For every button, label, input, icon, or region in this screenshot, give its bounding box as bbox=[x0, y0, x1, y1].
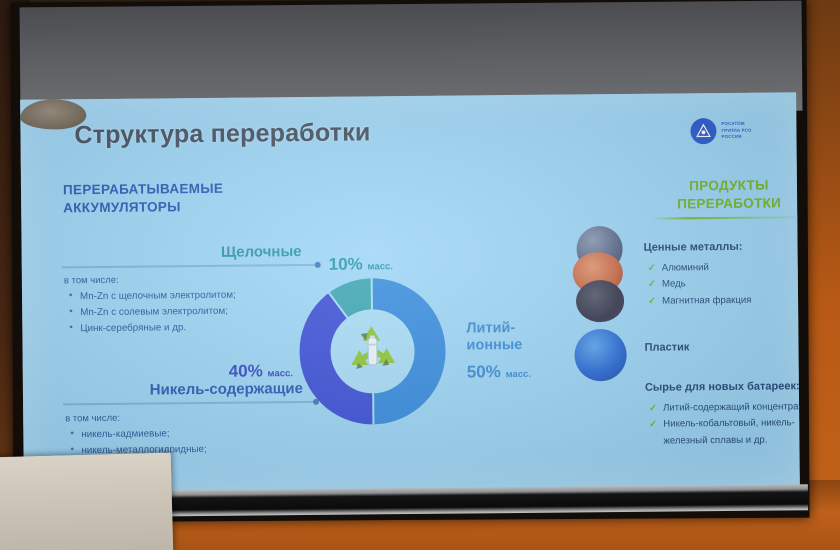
list-item: никель-кадмиевые; bbox=[81, 426, 206, 443]
percent-lithium-value: 50% bbox=[467, 362, 501, 381]
right-column-heading: ПРОДУКТЫ ПЕРЕРАБОТКИ bbox=[649, 176, 800, 214]
connector-line-nickel bbox=[63, 401, 315, 405]
left-column-heading: ПЕРЕРАБАТЫВАЕМЫЕ АККУМУЛЯТОРЫ bbox=[63, 180, 223, 218]
percent-nickel: 40% масс. bbox=[229, 361, 293, 382]
lithium-label-line-1: Литий- bbox=[466, 320, 522, 338]
recycling-icon bbox=[341, 320, 404, 383]
rosatom-logo: РОСАТОМ ГРУППА РСО РОССИЯ bbox=[690, 118, 751, 145]
percent-nickel-value: 40% bbox=[229, 361, 263, 380]
list-item: Mn-Zn с щелочным электролитом; bbox=[80, 288, 236, 305]
percent-lithium: 50% масс. bbox=[467, 362, 531, 383]
donut-chart bbox=[299, 278, 446, 425]
metal-granules-image-3 bbox=[576, 280, 624, 322]
presentation-slide: Структура переработки РОСАТОМ ГРУППА РСО… bbox=[20, 92, 800, 493]
donut-center bbox=[330, 309, 415, 394]
right-heading-divider bbox=[651, 216, 800, 219]
logo-line-3: РОССИЯ bbox=[721, 134, 751, 141]
sublist-alkaline: в том числе: Mn-Zn с щелочным электролит… bbox=[64, 274, 236, 337]
connector-dot-alkaline bbox=[315, 261, 321, 267]
list-item: Mn-Zn с солевым электролитом; bbox=[80, 304, 236, 321]
group-label-lithium: Литий- ионные bbox=[466, 320, 522, 355]
group-label-nickel: Никель-содержащие bbox=[111, 380, 303, 399]
lithium-label-line-2: ионные bbox=[466, 337, 522, 355]
percent-lithium-unit: масс. bbox=[506, 369, 532, 380]
product-block-metals: Ценные металлы: Алюминий Медь Магнитная … bbox=[644, 240, 800, 310]
list-item: Магнитная фракция bbox=[662, 292, 800, 310]
right-heading-line-2: ПЕРЕРАБОТКИ bbox=[649, 194, 800, 214]
group-label-alkaline: Щелочные bbox=[142, 243, 302, 262]
right-heading-line-1: ПРОДУКТЫ bbox=[649, 176, 800, 196]
list-item: Медь bbox=[662, 275, 800, 293]
percent-nickel-unit: масс. bbox=[267, 368, 293, 379]
percent-alkaline-value: 10% bbox=[329, 254, 363, 273]
product-block-raw-materials: Сырье для новых батареек: Литий-содержащ… bbox=[645, 380, 800, 450]
product-block-plastic: Пластик bbox=[644, 340, 799, 355]
left-heading-line-2: АККУМУЛЯТОРЫ bbox=[63, 198, 223, 218]
list-item: Цинк-серебряные и др. bbox=[80, 319, 236, 336]
sublist-nickel-intro: в том числе: bbox=[65, 412, 206, 424]
list-item: Алюминий bbox=[662, 259, 800, 277]
product-block-raw-materials-items: Литий-содержащий концентрат Никель-кобал… bbox=[645, 399, 800, 450]
connector-line-alkaline bbox=[62, 264, 317, 268]
page-title: Структура переработки bbox=[74, 118, 370, 150]
product-block-metals-title: Ценные металлы: bbox=[644, 240, 800, 255]
list-item: Литий-содержащий концентрат bbox=[663, 399, 800, 417]
product-block-metals-items: Алюминий Медь Магнитная фракция bbox=[644, 259, 800, 310]
photo-scene: Структура переработки РОСАТОМ ГРУППА РСО… bbox=[0, 0, 840, 550]
plastic-granules-image bbox=[574, 329, 626, 381]
rosatom-logo-text: РОСАТОМ ГРУППА РСО РОССИЯ bbox=[721, 121, 751, 141]
percent-alkaline-unit: масс. bbox=[367, 261, 393, 272]
sublist-alkaline-intro: в том числе: bbox=[64, 274, 236, 287]
percent-alkaline: 10% масс. bbox=[329, 254, 393, 275]
sublist-alkaline-items: Mn-Zn с щелочным электролитом; Mn-Zn с с… bbox=[64, 288, 236, 337]
list-item: Никель-кобальтовый, никель-железный спла… bbox=[663, 415, 800, 449]
product-block-raw-materials-title: Сырье для новых батареек: bbox=[645, 380, 800, 395]
rosatom-atom-icon bbox=[690, 118, 716, 144]
product-block-plastic-title: Пластик bbox=[644, 340, 799, 355]
podium-panel bbox=[0, 453, 173, 550]
left-heading-line-1: ПЕРЕРАБАТЫВАЕМЫЕ bbox=[63, 180, 223, 200]
